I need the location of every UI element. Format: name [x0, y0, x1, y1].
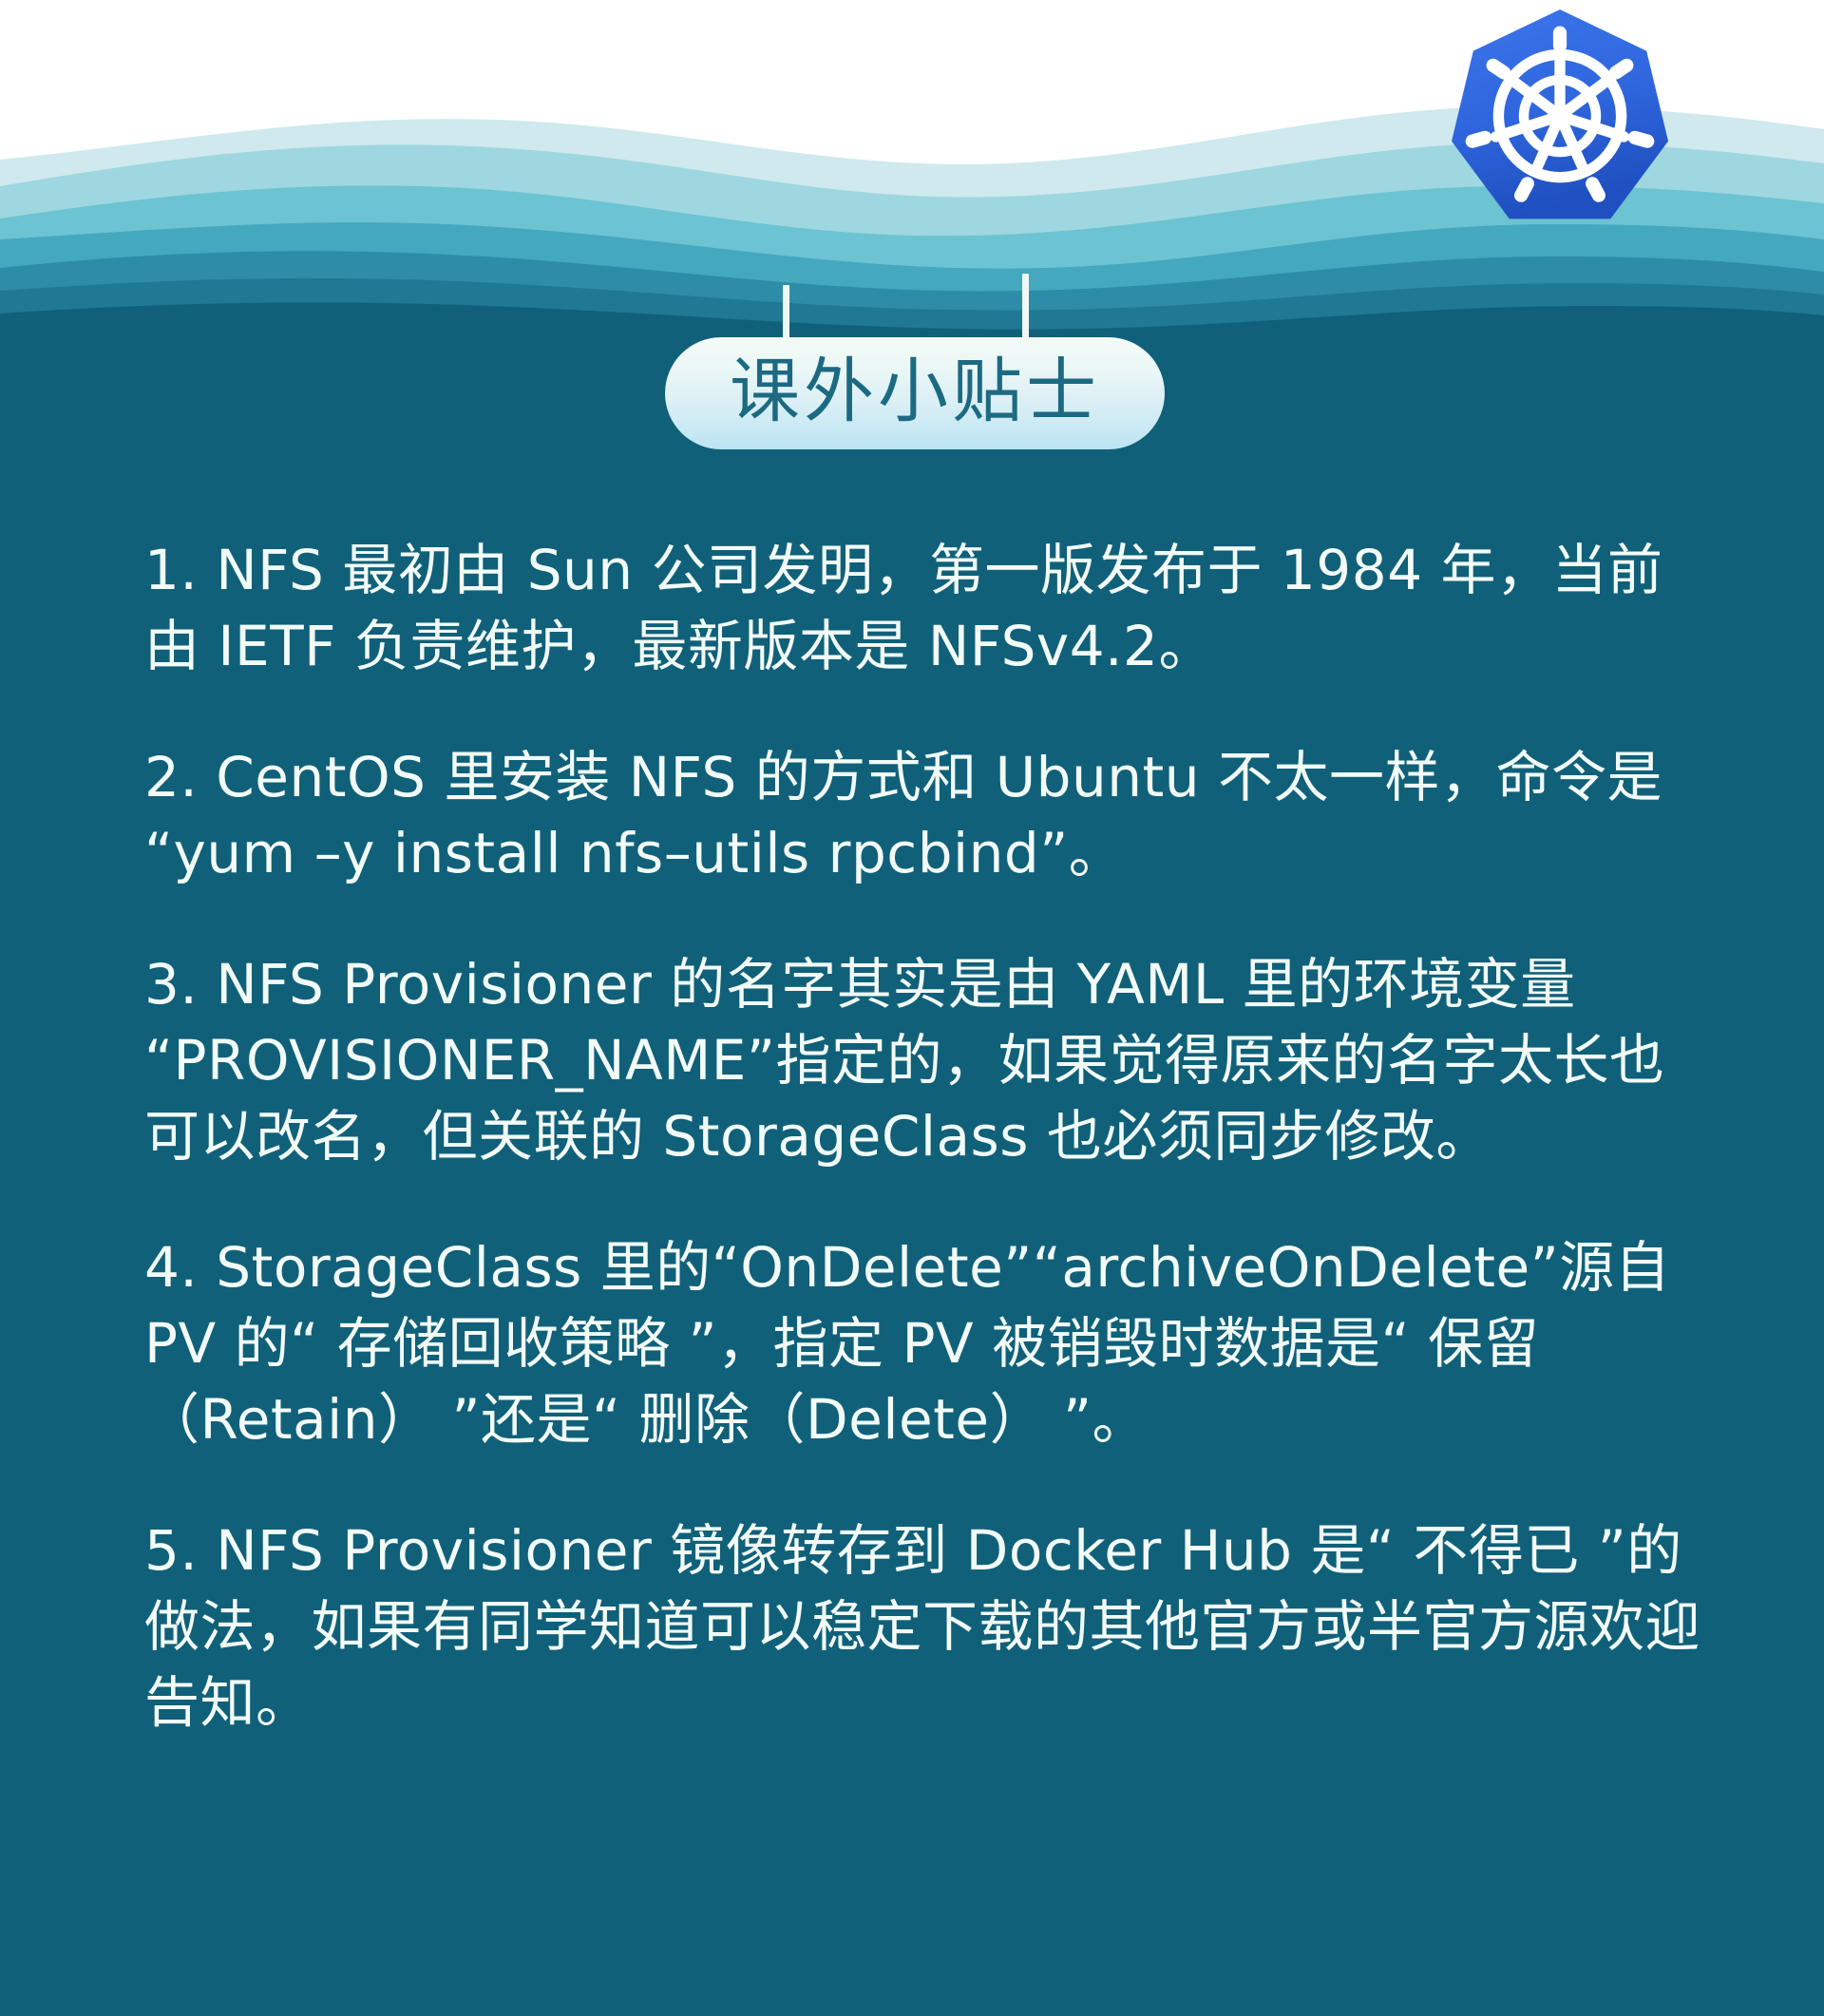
title-badge: 课外小贴士 [665, 337, 1165, 449]
tip-item-1: 1. NFS 最初由 Sun 公司发明，第一版发布于 1984 年，当前由 IE… [144, 532, 1702, 684]
tips-list: 1. NFS 最初由 Sun 公司发明，第一版发布于 1984 年，当前由 IE… [144, 532, 1702, 1740]
tip-item-4: 4. StorageClass 里的“OnDelete”“archiveOnDe… [144, 1229, 1702, 1457]
poster-page: 课外小贴士 1. NFS 最初由 Sun 公司发明，第一版发布于 1984 年，… [0, 0, 1824, 2016]
kubernetes-logo [1452, 4, 1668, 230]
tip-item-3: 3. NFS Provisioner 的名字其实是由 YAML 里的环境变量“P… [144, 946, 1702, 1174]
tip-item-2: 2. CentOS 里安装 NFS 的方式和 Ubuntu 不太一样，命令是“y… [144, 739, 1702, 891]
page-title: 课外小贴士 [730, 356, 1100, 430]
tip-item-5: 5. NFS Provisioner 镜像转存到 Docker Hub 是“ 不… [144, 1512, 1702, 1740]
